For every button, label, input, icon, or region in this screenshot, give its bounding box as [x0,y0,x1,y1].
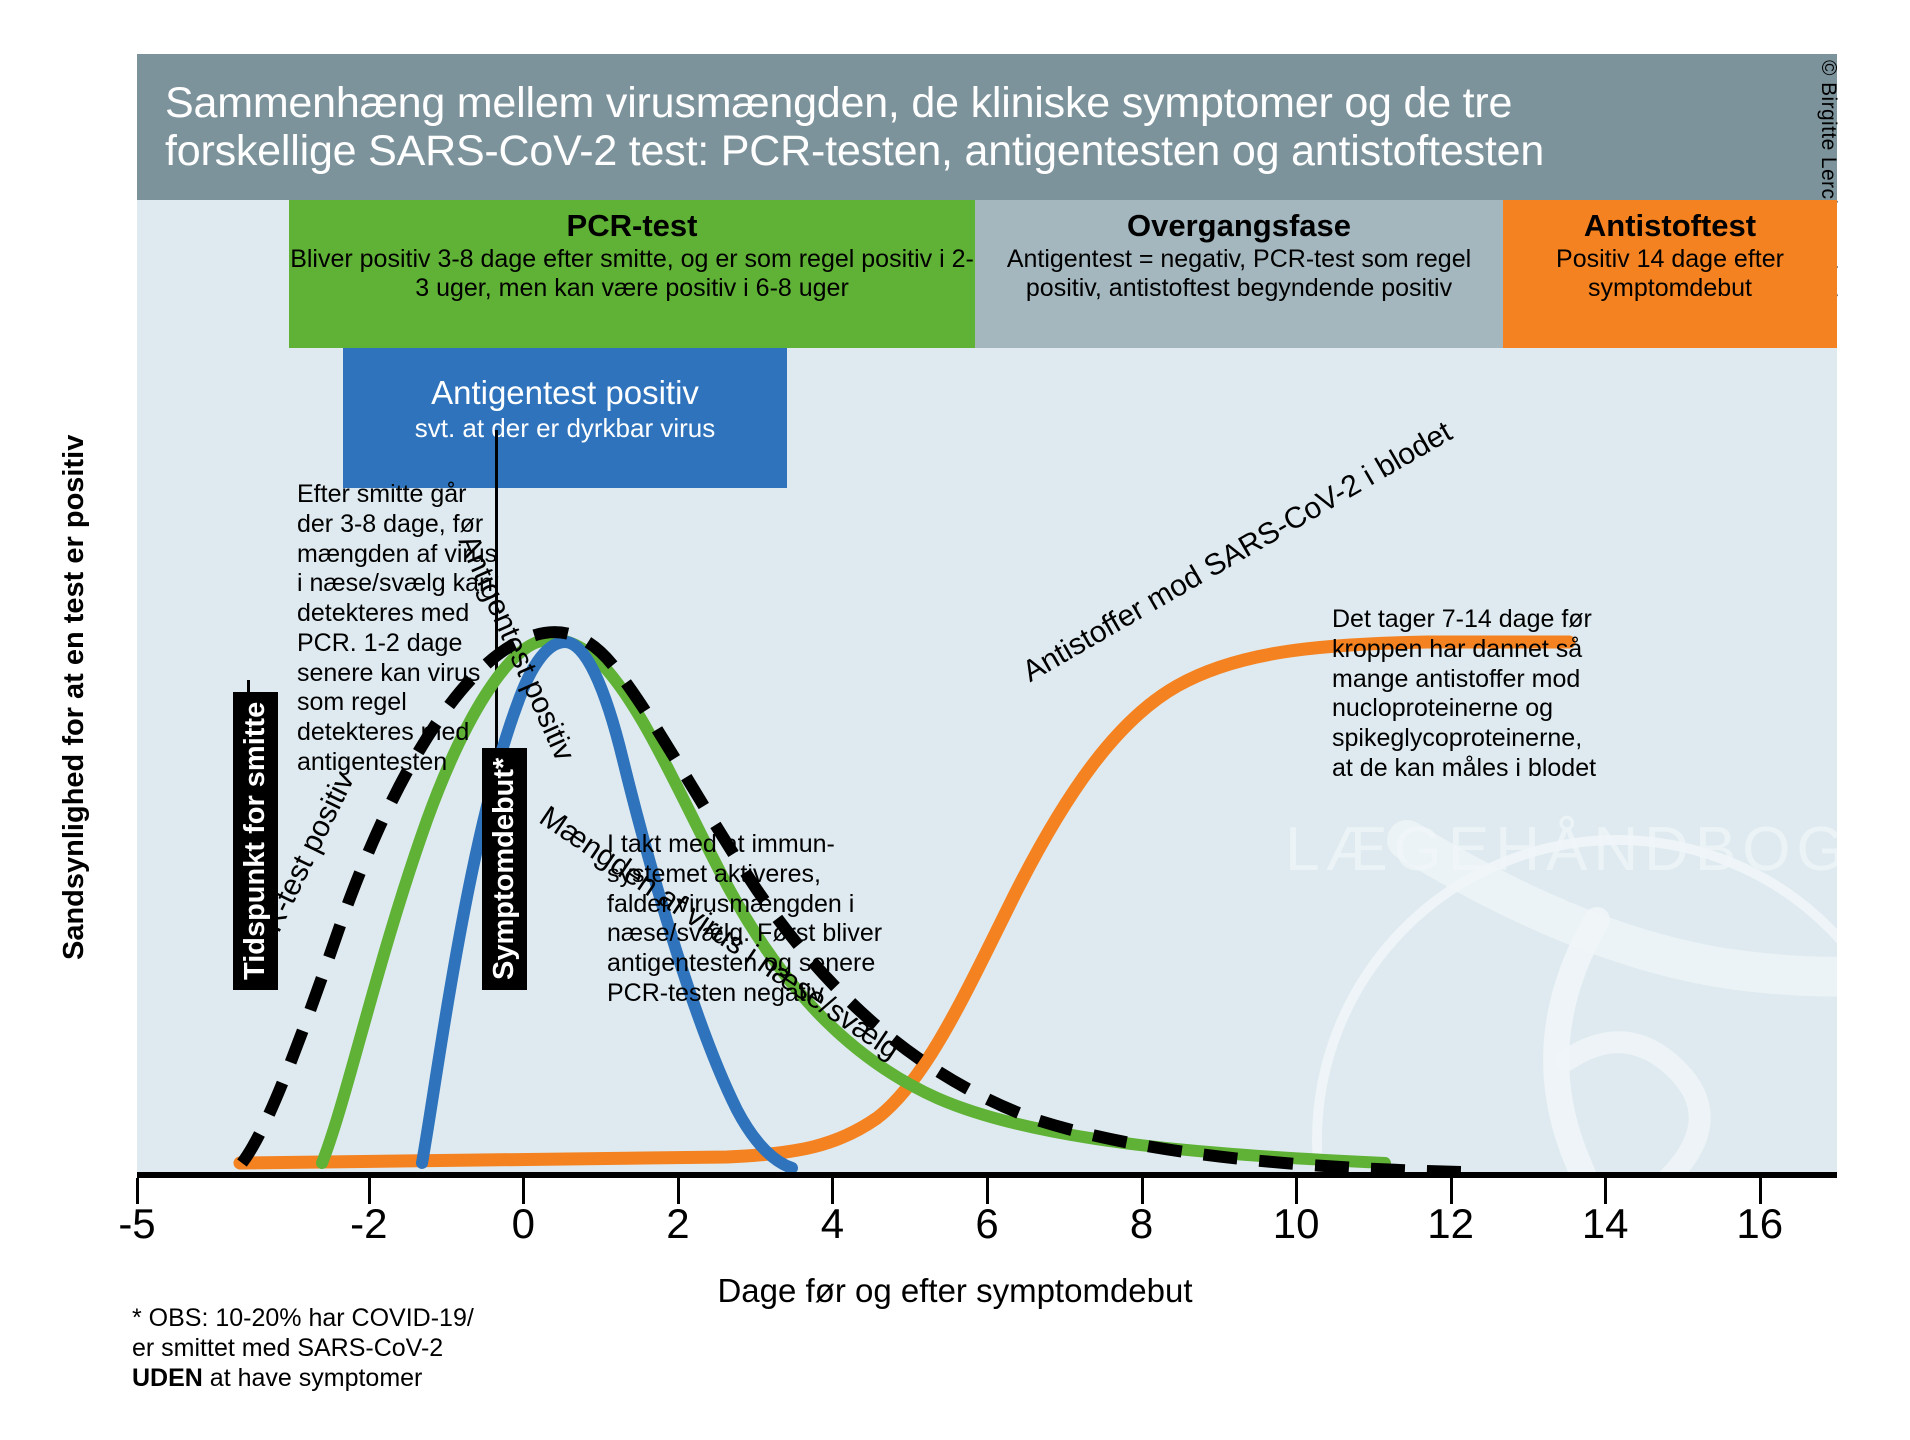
footnote-line3-rest: at have symptomer [203,1364,423,1392]
x-axis-tick-label: 4 [821,1200,844,1248]
marker-label-tidspunkt-for-smitte: Tidspunkt for smitte [233,692,278,990]
footnote: * OBS: 10-20% har COVID-19/ er smittet m… [132,1303,474,1393]
marker-label-symptomdebut: Symptomdebut* [482,748,527,990]
x-axis-tick-label: 16 [1736,1200,1783,1248]
x-axis-tick-label: 12 [1427,1200,1474,1248]
x-axis-tick-label: 2 [666,1200,689,1248]
page-title-line1: Sammenhæng mellem virusmængden, de klini… [165,79,1544,127]
y-axis-label: Sandsynlighed for at en test er positiv [58,435,91,960]
footnote-uden: UDEN [132,1364,203,1392]
page-title: Sammenhæng mellem virusmængden, de klini… [165,79,1544,175]
footnote-line3: UDEN at have symptomer [132,1363,474,1393]
x-axis-tick-label: 14 [1582,1200,1629,1248]
x-axis-tick-label: -5 [118,1200,155,1248]
chart-plot-area: LÆGEHÅNDBOGEN SUNDHED.DK PCR-test Bliver… [137,200,1837,1172]
footnote-line1: * OBS: 10-20% har COVID-19/ [132,1303,474,1333]
x-axis-tick-label: 10 [1273,1200,1320,1248]
x-axis-tick-label: 6 [975,1200,998,1248]
page-title-line2: forskellige SARS-CoV-2 test: PCR-testen,… [165,127,1544,175]
header-bar: Sammenhæng mellem virusmængden, de klini… [137,54,1837,200]
annotation-middle: I takt med at immun- systemet aktiveres,… [607,830,907,1009]
x-axis-tick-label: 0 [512,1200,535,1248]
x-axis-tick-label: 8 [1130,1200,1153,1248]
annotation-right: Det tager 7-14 dage før kroppen har dann… [1332,605,1662,784]
annotation-left: Efter smitte går der 3-8 dage, før mængd… [297,480,512,778]
x-axis-tick-label: -2 [350,1200,387,1248]
footnote-line2: er smittet med SARS-CoV-2 [132,1333,474,1363]
infographic-root: Sammenhæng mellem virusmængden, de klini… [0,0,1910,1440]
